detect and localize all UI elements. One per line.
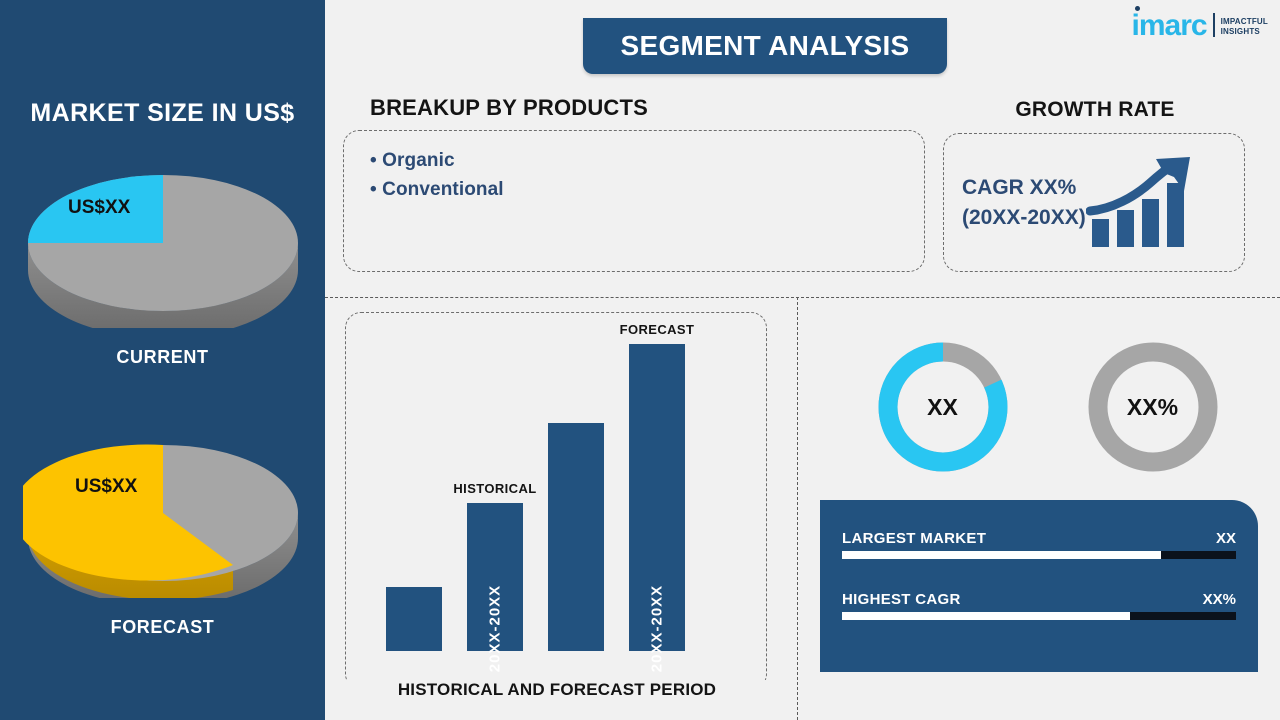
- logo-divider: [1213, 13, 1215, 37]
- donut-cyan-label: XX: [874, 338, 1012, 476]
- stat-row-largest-market: LARGEST MARKET XX: [842, 530, 1236, 559]
- infographic-root: MARKET SIZE IN US$ US$XX: [0, 0, 1280, 720]
- bar-top-label: HISTORICAL: [453, 481, 536, 496]
- donut-yellow-label: XX%: [1084, 338, 1222, 476]
- growth-rate-heading: GROWTH RATE: [945, 98, 1245, 122]
- product-list: Organic Conventional: [344, 131, 924, 204]
- stat-row-highest-cagr: HIGHEST CAGR XX%: [842, 591, 1236, 620]
- stat-progress-fill: [842, 612, 1130, 620]
- bar-item: [386, 587, 442, 651]
- vertical-divider: [797, 297, 798, 720]
- page-title-badge: SEGMENT ANALYSIS: [583, 18, 947, 74]
- logo-tagline: IMPACTFUL INSIGHTS: [1221, 17, 1268, 37]
- market-stats-panel: LARGEST MARKET XX HIGHEST CAGR XX%: [820, 500, 1258, 672]
- stat-value: XX%: [1203, 591, 1236, 608]
- market-size-title: MARKET SIZE IN US$: [0, 99, 325, 128]
- pie-forecast-value: US$XX: [75, 476, 137, 498]
- bar-value-label: 20XX-20XX: [649, 585, 666, 672]
- cagr-text: CAGR XX% (20XX-20XX): [962, 173, 1086, 233]
- bar-item: HISTORICAL 20XX-20XX: [467, 503, 523, 651]
- donut-chart-percent: XX%: [1084, 338, 1222, 476]
- stat-label: LARGEST MARKET: [842, 530, 986, 547]
- stat-progress-fill: [842, 551, 1161, 559]
- bar-chart: HISTORICAL 20XX-20XX FORECAST 20XX-20XX: [386, 339, 726, 651]
- pie-forecast-svg: [23, 428, 303, 598]
- breakup-by-products-box: Organic Conventional: [343, 130, 925, 272]
- market-size-panel: MARKET SIZE IN US$ US$XX: [0, 0, 325, 720]
- logo-tagline-line1: IMPACTFUL: [1221, 17, 1268, 27]
- pie-chart-current: US$XX CURRENT: [0, 158, 325, 368]
- historical-forecast-chart-box: HISTORICAL 20XX-20XX FORECAST 20XX-20XX …: [345, 312, 767, 690]
- cagr-value: CAGR XX%: [962, 173, 1086, 203]
- growth-rate-box: CAGR XX% (20XX-20XX): [943, 133, 1245, 272]
- pie-chart-forecast: US$XX FORECAST: [0, 428, 325, 638]
- logo-tagline-line2: INSIGHTS: [1221, 27, 1268, 37]
- stat-label: HIGHEST CAGR: [842, 591, 961, 608]
- donut-chart-value: XX: [874, 338, 1012, 476]
- donut-charts: XX XX%: [825, 338, 1270, 510]
- bar-chart-axis-label: HISTORICAL AND FORECAST PERIOD: [346, 680, 768, 700]
- bar-item: [548, 423, 604, 651]
- product-list-item: Organic: [370, 146, 924, 175]
- pie-current-value: US$XX: [68, 197, 130, 219]
- stat-progress-track: [842, 612, 1236, 620]
- logo-wordmark: imarc: [1132, 12, 1207, 39]
- breakup-by-products-heading: BREAKUP BY PRODUCTS: [370, 95, 648, 121]
- pie-current-caption: CURRENT: [0, 347, 325, 368]
- stat-value: XX: [1216, 530, 1236, 547]
- stat-progress-track: [842, 551, 1236, 559]
- pie-forecast-caption: FORECAST: [0, 617, 325, 638]
- cagr-period: (20XX-20XX): [962, 203, 1086, 233]
- growth-arrow-chart-icon: [1086, 155, 1194, 251]
- horizontal-divider: [325, 297, 1280, 298]
- logo-dot-icon: [1135, 6, 1140, 11]
- product-list-item: Conventional: [370, 175, 924, 204]
- pie-current-svg: [23, 158, 303, 328]
- page-title: SEGMENT ANALYSIS: [621, 30, 910, 62]
- imarc-logo: imarc IMPACTFUL INSIGHTS: [1132, 12, 1268, 39]
- bar-top-label: FORECAST: [620, 322, 695, 337]
- segment-analysis-panel: SEGMENT ANALYSIS imarc IMPACTFUL INSIGHT…: [325, 0, 1280, 720]
- bar-item: FORECAST 20XX-20XX: [629, 344, 685, 651]
- bar-value-label: 20XX-20XX: [487, 585, 504, 672]
